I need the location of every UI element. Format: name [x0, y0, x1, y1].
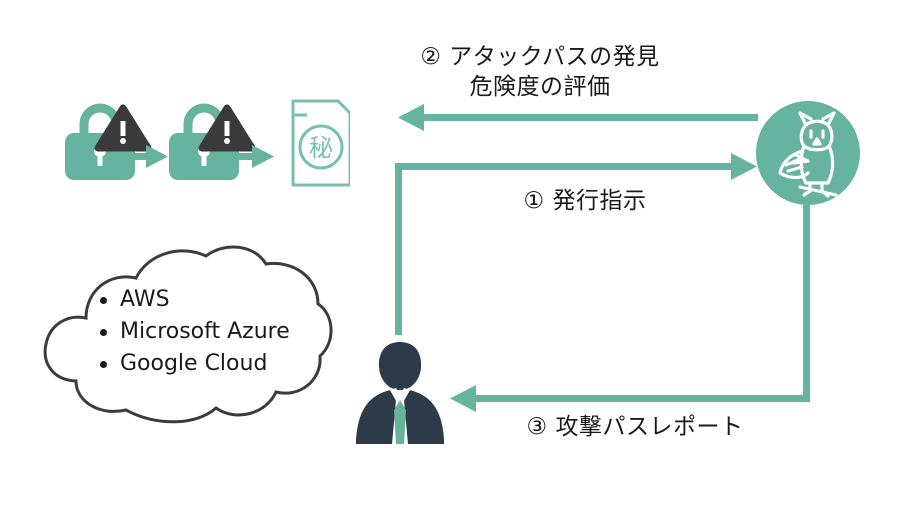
arrow-step3 — [450, 205, 810, 412]
step2-label-line1: ② アタックパスの発見 — [180, 42, 900, 72]
businessman-avatar-icon — [352, 338, 448, 446]
cloud-provider-list: AWS Microsoft Azure Google Cloud — [100, 284, 290, 380]
document-stamp-text: 秘 — [309, 134, 333, 162]
step2-label-line2: 危険度の評価 — [180, 72, 900, 102]
step2-label: ② アタックパスの発見 危険度の評価 — [0, 42, 900, 102]
warning-triangle-icon — [98, 108, 148, 148]
secret-document-icon: 秘 — [293, 101, 350, 185]
list-item: Microsoft Azure — [100, 316, 290, 348]
arrow-step2 — [398, 104, 758, 131]
step3-label: ③ 攻撃パスレポート — [450, 412, 820, 442]
step1-label: ① 発行指示 — [420, 186, 750, 216]
list-item: Google Cloud — [100, 348, 290, 380]
list-item: AWS — [100, 284, 290, 316]
breach-chain-graphic: 秘 — [60, 95, 350, 195]
diagram-canvas: 秘 AWS Microsoft Azure Google Cloud — [0, 0, 900, 506]
owl-logo-icon — [756, 101, 860, 205]
arrow-step1 — [395, 153, 757, 335]
warning-triangle-icon — [202, 108, 252, 148]
